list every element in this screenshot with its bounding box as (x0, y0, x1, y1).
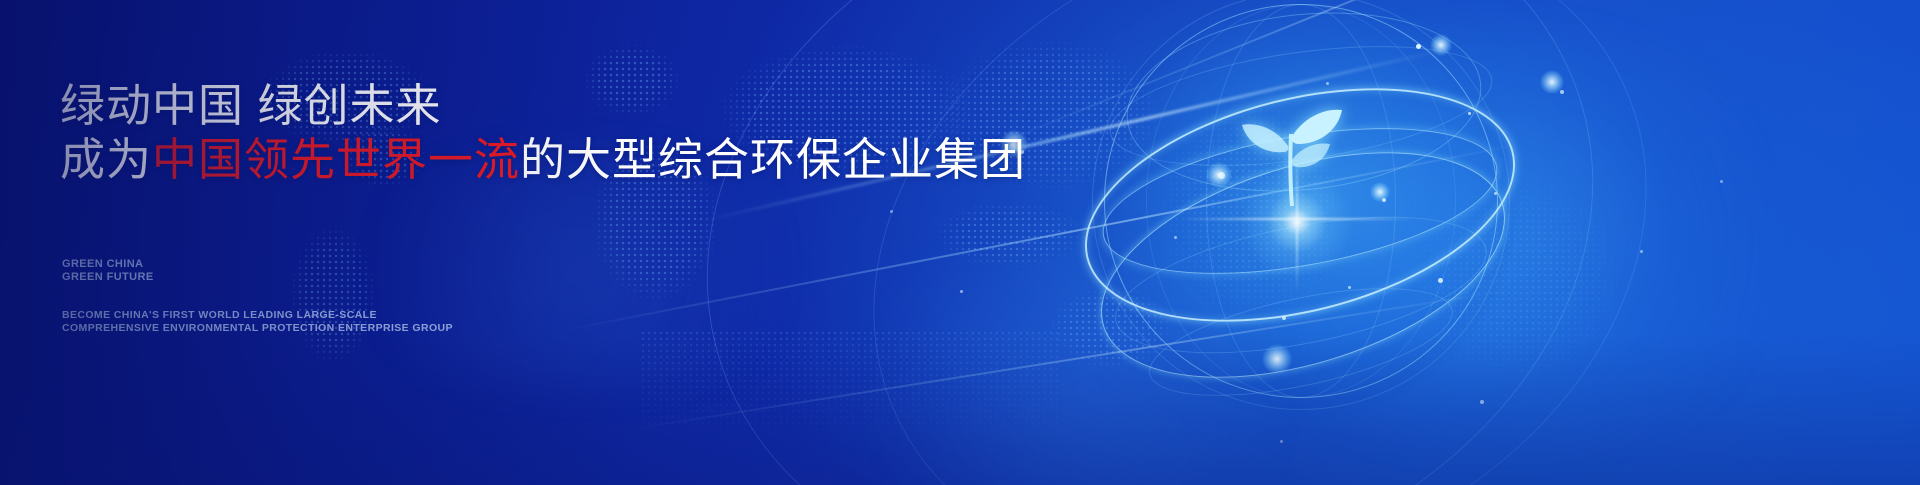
ambient-particle-glow (1540, 70, 1564, 94)
sprout-icon (1236, 94, 1344, 206)
tagline-line-1: GREEN CHINA (62, 258, 154, 271)
subtitle-line-2: COMPREHENSIVE ENVIRONMENTAL PROTECTION E… (62, 322, 453, 335)
headline-highlight: 中国领先世界一流 (152, 134, 520, 185)
tagline-line-2: GREEN FUTURE (62, 271, 154, 284)
subtitle-block: BECOME CHINA'S FIRST WORLD LEADING LARGE… (62, 309, 453, 334)
globe-particle-glow (1370, 182, 1390, 202)
globe-particle-glow (1262, 344, 1292, 374)
globe-particle-glow (1206, 162, 1232, 188)
globe-flare-horizontal (1182, 218, 1414, 220)
headline-line-2: 成为中国领先世界一流的大型综合环保企业集团 (60, 134, 1026, 186)
tagline-block: GREEN CHINA GREEN FUTURE (62, 258, 154, 284)
headline-suffix: 的大型综合环保企业集团 (520, 134, 1026, 185)
globe-particle-glow (1430, 34, 1452, 56)
headline-prefix: 成为 (60, 134, 152, 185)
eco-company-hero-banner: 绿动中国 绿创未来 成为中国领先世界一流的大型综合环保企业集团 GREEN CH… (0, 0, 1920, 485)
subtitle-line-1: BECOME CHINA'S FIRST WORLD LEADING LARGE… (62, 309, 453, 322)
glowing-globe-graphic (1086, 0, 1516, 416)
headline-line-1: 绿动中国 绿创未来 (60, 80, 442, 132)
headline-text-block: 绿动中国 绿创未来 成为中国领先世界一流的大型综合环保企业集团 GREEN CH… (60, 0, 1060, 485)
